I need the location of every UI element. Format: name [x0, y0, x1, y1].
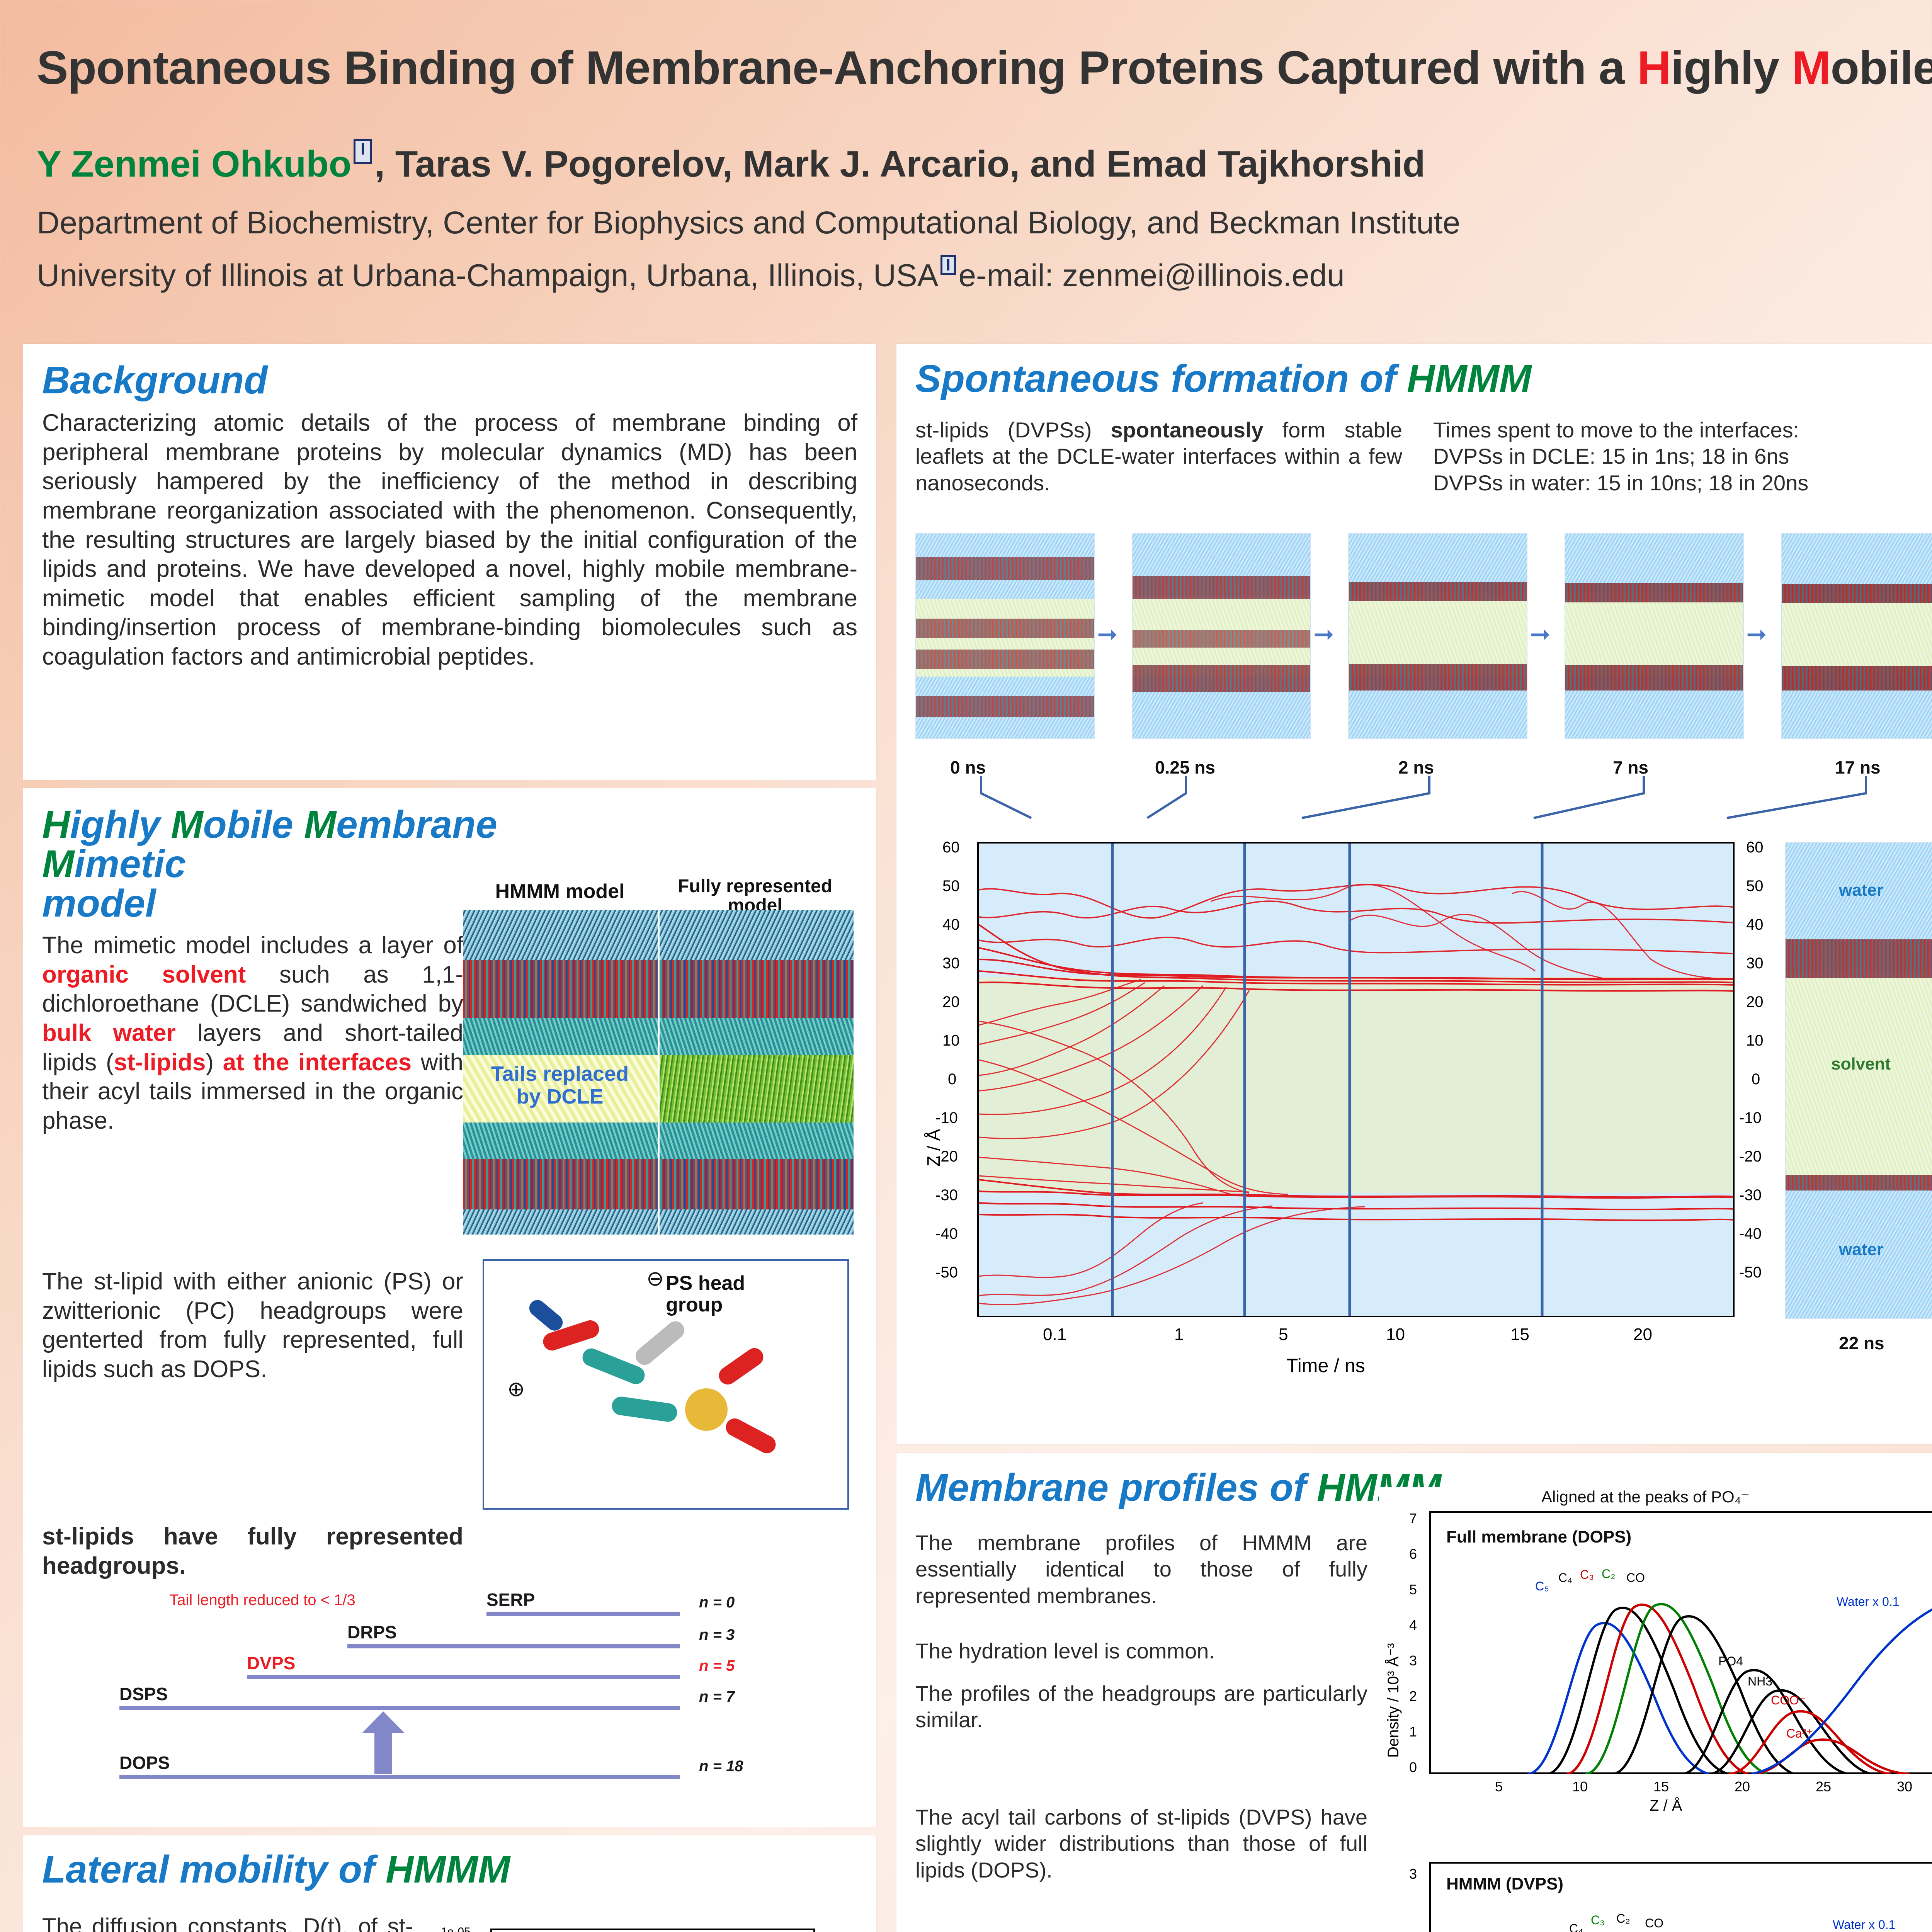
- chart4-label-water: Water x 0.1: [1833, 1918, 1895, 1932]
- chart3-subtitle: Aligned at the peaks of PO₄⁻: [1541, 1487, 1750, 1506]
- lateral-paragraph-1: The diffusion constants, D(t), of st-lip…: [42, 1912, 413, 1932]
- hmmm-h: H: [42, 803, 70, 846]
- formation-left-a: st-lipids (DVPSs): [915, 418, 1111, 442]
- tail-length-note: Tail length reduced to < 1/3: [154, 1592, 371, 1609]
- inset-label-time: 22 ns: [1839, 1333, 1884, 1354]
- panel-spontaneous-formation: Spontaneous formation of HMMM st-lipids …: [896, 344, 1932, 1444]
- page-title: Spontaneous Binding of Membrane-Anchorin…: [37, 41, 1932, 95]
- chart3-label-po4: PO4: [1718, 1654, 1743, 1668]
- snapshot-2ns: [1348, 533, 1527, 739]
- chart3-label-c3: C₃: [1580, 1568, 1594, 1582]
- charge-minus-icon: ⊖: [646, 1266, 664, 1291]
- snapshot-025ns: [1132, 533, 1311, 739]
- lipid-n-dsps: n = 7: [699, 1688, 735, 1706]
- snapshot-0ns: [915, 533, 1095, 739]
- chart3-label-nh3: NH3: [1748, 1674, 1772, 1689]
- poster-root: Spontaneous Binding of Membrane-Anchorin…: [0, 0, 1932, 1932]
- chart3-ytick-1: 1: [1409, 1724, 1417, 1740]
- formation-title-a: Spontaneous formation of: [915, 357, 1407, 400]
- leader-lines: [915, 776, 1932, 819]
- chart3-xtick-0: 5: [1495, 1779, 1503, 1795]
- formation-right-text: Times spent to move to the interfaces: D…: [1433, 417, 1932, 496]
- lipid-n-dops: n = 18: [699, 1758, 743, 1775]
- title-obile: obile: [1830, 41, 1932, 94]
- snapshot-17ns: [1781, 533, 1932, 739]
- chart3-xlabel: Z / Å: [1650, 1797, 1682, 1815]
- hmmm-embrane: embrane: [336, 803, 497, 846]
- footnote-marker-icon-2: [940, 255, 956, 275]
- chart3-ytick-6: 6: [1409, 1546, 1417, 1562]
- poster-header: Spontaneous Binding of Membrane-Anchorin…: [0, 0, 1932, 340]
- full-core-right: [658, 1055, 854, 1122]
- chart4-label-c4: C₄: [1569, 1922, 1583, 1932]
- chart2-xtick-3: 10: [1386, 1325, 1405, 1344]
- chart-z-vs-time: Z / Å 60 50 40 30 20 10 0 -10 -20 -30 -4…: [915, 819, 1932, 1398]
- atom-hydrogen-1: [632, 1318, 688, 1369]
- inset-label-water-top: water: [1839, 881, 1883, 900]
- chart2-ytick-3: 30: [942, 955, 960, 972]
- chart3-label-c2: C₂: [1602, 1567, 1616, 1581]
- formation-title-hmmm: HMMM: [1407, 357, 1531, 400]
- chart2-xtick-1: 1: [1174, 1325, 1184, 1344]
- profiles-para-1: The membrane profiles of HMMM are essent…: [915, 1530, 1367, 1609]
- profiles-para-2: The hydration level is common.: [915, 1638, 1367, 1664]
- panel-background: Background Characterizing atomic details…: [23, 344, 876, 780]
- snapshot-label-1: 0.25 ns: [1155, 757, 1215, 778]
- snapshot-label-4: 17 ns: [1835, 757, 1881, 778]
- lipid-length-diagram: Tail length reduced to < 1/3 SERP n = 0 …: [42, 1588, 850, 1804]
- profiles-title-a: Membrane profiles of: [915, 1466, 1317, 1509]
- section-title-lateral: Lateral mobility of HMMM: [42, 1850, 857, 1889]
- hmmm-m1: M: [171, 803, 203, 846]
- title-ighly: ighly: [1671, 41, 1792, 94]
- chart3-label-co: CO: [1626, 1571, 1645, 1585]
- chart3-label-ca: Ca²⁺: [1786, 1726, 1813, 1741]
- panel-lateral-mobility: Lateral mobility of HMMM The diffusion c…: [23, 1835, 876, 1932]
- p1-st-lipids: st-lipids: [114, 1049, 206, 1076]
- chart1-curves: [492, 1930, 815, 1932]
- chart4-label-c2: C₂: [1616, 1912, 1630, 1926]
- author-list: Y Zenmei Ohkubo, Taras V. Pogorelov, Mar…: [37, 139, 1425, 185]
- snapshot-7ns: [1565, 533, 1744, 739]
- chart3-ytick-3: 3: [1409, 1653, 1417, 1669]
- formation-times-line1: DVPSs in DCLE: 15 in 1ns; 18 in 6ns: [1433, 443, 1932, 469]
- chart2-ytick-r6: 0: [1752, 1071, 1760, 1088]
- snapshot-strip: ➞ ➞ ➞: [915, 533, 1932, 742]
- title-main: Spontaneous Binding of Membrane-Anchorin…: [37, 41, 1637, 94]
- affiliation-2-text: University of Illinois at Urbana-Champai…: [37, 258, 938, 293]
- ps-headgroup-figure: PS head group ⊖ ⊕: [483, 1259, 849, 1510]
- inset-label-solvent: solvent: [1831, 1054, 1891, 1074]
- chart3-label-water: Water x 0.1: [1837, 1595, 1899, 1609]
- panel-hmmm-model: Highly Mobile Membrane Mimetic model The…: [23, 788, 876, 1827]
- panel-membrane-profiles: Membrane profiles of HMMM The membrane p…: [896, 1453, 1932, 1932]
- chart3-label-c5: C₅: [1535, 1579, 1549, 1594]
- chart3-curves: [1431, 1513, 1932, 1774]
- hmmm-ighly: ighly: [70, 803, 171, 846]
- figure-divider: [658, 910, 660, 1235]
- chart2-ytick-r2: 40: [1746, 916, 1764, 934]
- ps-head-group-label: PS head group: [666, 1272, 782, 1316]
- snapshot-label-2: 2 ns: [1398, 757, 1434, 778]
- formation-left-bold: spontaneously: [1111, 418, 1264, 442]
- chart2-ytick-r9: -30: [1739, 1187, 1762, 1204]
- lipid-label-drps: DRPS: [347, 1622, 397, 1643]
- chart3-ytick-5: 5: [1409, 1582, 1417, 1598]
- lipid-bar-dsps: [119, 1706, 680, 1710]
- footnote-marker-icon: [354, 139, 372, 164]
- p1d: ): [206, 1049, 223, 1076]
- p1a: The mimetic model includes a layer of: [42, 932, 463, 959]
- hmmm-model-word: model: [42, 882, 156, 925]
- lateral-title-hmmm: HMMM: [386, 1848, 510, 1891]
- chart2-ytick-10: -40: [935, 1225, 958, 1243]
- lipid-bar-drps: [347, 1644, 680, 1648]
- chart2-ytick-r5: 10: [1746, 1032, 1764, 1049]
- profiles-para-4: The acyl tail carbons of st-lipids (DVPS…: [915, 1804, 1367, 1883]
- title-h1: H: [1637, 41, 1671, 94]
- section-title-formation: Spontaneous formation of HMMM: [915, 359, 1932, 398]
- atom-phosphorus: [685, 1388, 728, 1431]
- hmmm-paragraph-3: st-lipids have fully represented headgro…: [42, 1522, 463, 1580]
- chart3-ytick-7: 7: [1409, 1510, 1417, 1527]
- chart2-ytick-r11: -50: [1739, 1264, 1762, 1281]
- chart-lateral-diffusion: Lateral diffusion coefficient, D(t) / cm…: [421, 1893, 850, 1932]
- chart4-label-co: CO: [1645, 1916, 1663, 1930]
- chart2-ytick-0: 60: [942, 839, 960, 856]
- chart2-xtick-4: 15: [1510, 1325, 1529, 1344]
- hmmm-paragraph-2: The st-lipid with either anionic (PS) or…: [42, 1267, 463, 1384]
- atom-oxygen-3: [723, 1415, 779, 1456]
- chart2-ytick-r3: 30: [1746, 955, 1764, 972]
- arrow-icon-2: ➞: [1313, 622, 1334, 646]
- chart3-label-coo: COO⁻: [1771, 1693, 1806, 1708]
- snapshot-label-3: 7 ns: [1613, 757, 1648, 778]
- chart2-ytick-5: 10: [942, 1032, 960, 1049]
- chart2-ytick-11: -50: [935, 1264, 958, 1281]
- section-title-background: Background: [42, 361, 857, 400]
- formation-left-text: st-lipids (DVPSs) spontaneously form sta…: [915, 417, 1402, 496]
- lipid-label-dvps: DVPS: [247, 1653, 295, 1673]
- affiliation-line-1: Department of Biochemistry, Center for B…: [37, 205, 1460, 241]
- lipid-n-serp: n = 0: [699, 1594, 735, 1611]
- formation-times-head: Times spent to move to the interfaces:: [1433, 417, 1932, 443]
- chart2-ytick-r1: 50: [1746, 878, 1764, 895]
- background-text: Characterizing atomic details of the pro…: [42, 408, 857, 672]
- chart2-ytick-6: 0: [948, 1071, 956, 1088]
- authors-rest: , Taras V. Pogorelov, Mark J. Arcario, a…: [374, 143, 1425, 185]
- affiliation-line-2: University of Illinois at Urbana-Champai…: [37, 255, 1345, 294]
- chart2-ytick-8: -20: [935, 1148, 958, 1165]
- chart4-label-c3: C₃: [1591, 1913, 1605, 1927]
- chart2-ytick-r8: -20: [1739, 1148, 1762, 1165]
- chart2-ytick-7: -10: [935, 1109, 958, 1127]
- chart4-ytick-3: 3: [1409, 1866, 1417, 1882]
- lipid-n-dvps: n = 5: [699, 1657, 735, 1675]
- arrow-icon-3: ➞: [1530, 622, 1551, 646]
- chart2-ytick-1: 50: [942, 878, 960, 895]
- chart2-xtick-2: 5: [1279, 1325, 1288, 1344]
- contact-email[interactable]: e-mail: zenmei@illinois.edu: [958, 258, 1344, 293]
- chart3-xtick-4: 25: [1816, 1779, 1831, 1795]
- hmmm-obile: obile: [203, 803, 304, 846]
- membrane-snapshot-image: Tails replaced by DCLE: [463, 910, 854, 1235]
- author-lead: Y Zenmei Ohkubo: [37, 143, 351, 185]
- chart2-ytick-9: -30: [935, 1187, 958, 1204]
- figure-label-hmmm-model: HMMM model: [463, 880, 656, 903]
- formation-times-line2: DVPSs in water: 15 in 10ns; 18 in 20ns: [1433, 470, 1932, 496]
- lipid-label-dops: DOPS: [119, 1752, 170, 1773]
- atom-nitrogen: [526, 1297, 566, 1334]
- lipid-bar-serp: [486, 1612, 680, 1616]
- chart2-ytick-r10: -40: [1739, 1225, 1762, 1243]
- p1-bulk-water: bulk water: [42, 1020, 176, 1046]
- lipid-bar-dops: [119, 1775, 680, 1779]
- chart2-ytick-r4: 20: [1746, 993, 1764, 1011]
- chart4-plot-area: HMMM (DVPS) DCLE x 0.1: [1429, 1862, 1932, 1932]
- growth-arrow-icon: [374, 1731, 392, 1774]
- chart2-traces: [979, 844, 1735, 1317]
- lipid-label-dsps: DSPS: [119, 1684, 168, 1704]
- chart1-ytick-0: 1e-05: [441, 1925, 471, 1932]
- lateral-title-a: Lateral mobility of: [42, 1848, 386, 1891]
- chart3-ylabel: Density / 10³ Å⁻³: [1384, 1643, 1402, 1758]
- title-m1: M: [1792, 41, 1831, 94]
- chart3-xtick-2: 15: [1653, 1779, 1669, 1795]
- atom-carbon-2: [611, 1395, 678, 1423]
- p1-at-interfaces: at the interfaces: [223, 1049, 412, 1076]
- hmmm-m2: M: [304, 803, 336, 846]
- chart2-ytick-r0: 60: [1746, 839, 1764, 856]
- hmmm-imetic: imetic: [74, 842, 186, 886]
- chart3-ytick-0: 0: [1409, 1759, 1417, 1776]
- chart-hmmm-density: Density / 10³ Å⁻³ 3 2 1 0 HMMM (DVPS): [1379, 1835, 1932, 1932]
- inset-label-water-bottom: water: [1839, 1240, 1883, 1259]
- profiles-para-3: The profiles of the headgroups are parti…: [915, 1680, 1367, 1733]
- atom-oxygen-2: [716, 1345, 767, 1388]
- p1-organic-solvent: organic solvent: [42, 961, 246, 988]
- hmmm-paragraph-1: The mimetic model includes a layer of or…: [42, 931, 463, 1135]
- arrow-icon-1: ➞: [1097, 622, 1118, 646]
- chart2-xtick-5: 20: [1633, 1325, 1652, 1344]
- section-title-hmmm: Highly Mobile Membrane Mimetic model: [42, 805, 514, 923]
- chart2-xlabel: Time / ns: [1286, 1354, 1365, 1377]
- chart2-ytick-2: 40: [942, 916, 960, 934]
- chart3-xtick-3: 20: [1735, 1779, 1750, 1795]
- chart2-xtick-0: 0.1: [1043, 1325, 1066, 1344]
- lipid-label-serp: SERP: [486, 1589, 535, 1610]
- snapshot-label-0: 0 ns: [950, 757, 986, 778]
- charge-plus-icon: ⊕: [507, 1377, 525, 1401]
- chart3-ytick-4: 4: [1409, 1617, 1417, 1633]
- arrow-icon-4: ➞: [1746, 622, 1767, 646]
- chart3-plot-area: Full membrane (DOPS) C₅ C₄: [1429, 1511, 1932, 1774]
- chart3-xtick-5: 30: [1897, 1779, 1912, 1795]
- overlay-label-tails-replaced: Tails replaced by DCLE: [479, 1063, 641, 1109]
- hmmm-comparison-figure: HMMM model Fully represented model Tails…: [463, 880, 854, 1235]
- hmmm-m3: M: [42, 842, 74, 886]
- chart-full-membrane-density: Aligned at the peaks of PO₄⁻ Density / 1…: [1379, 1487, 1932, 1820]
- chart3-xtick-1: 10: [1572, 1779, 1588, 1795]
- chart3-ytick-2: 2: [1409, 1688, 1417, 1704]
- chart2-plot-area: [977, 842, 1735, 1317]
- chart3-label-c4: C₄: [1558, 1571, 1572, 1585]
- chart2-ytick-r7: -10: [1739, 1109, 1762, 1127]
- lipid-n-drps: n = 3: [699, 1626, 735, 1644]
- chart2-ytick-4: 20: [942, 993, 960, 1011]
- lipid-bar-dvps: [247, 1675, 680, 1679]
- chart1-plot-area: DVPS DOPS with Na⁺ Ca²⁺ counterions Aₗ =…: [490, 1929, 815, 1932]
